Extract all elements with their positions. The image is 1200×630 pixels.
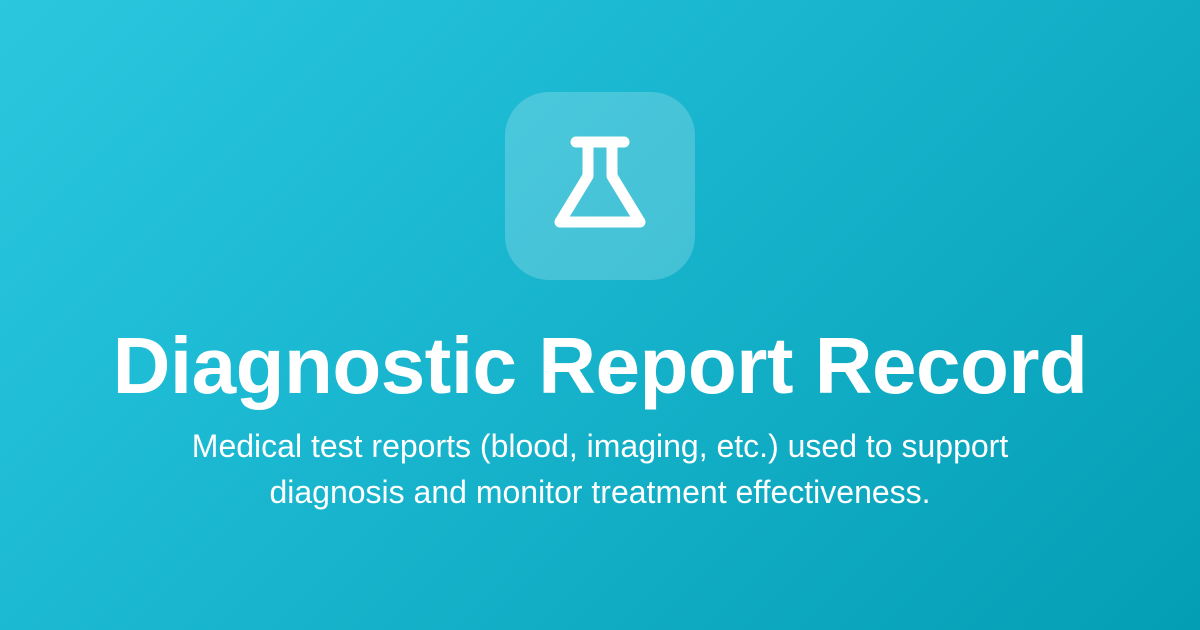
page-subtitle: Medical test reports (blood, imaging, et… <box>95 423 1105 515</box>
flask-icon <box>538 124 662 248</box>
page-subtitle-line-1: Medical test reports (blood, imaging, et… <box>95 423 1105 469</box>
hero-banner: Diagnostic Report Record Medical test re… <box>0 0 1200 630</box>
icon-tile <box>505 92 695 280</box>
page-title: Diagnostic Report Record <box>0 324 1200 407</box>
page-subtitle-line-2: diagnosis and monitor treatment effectiv… <box>95 469 1105 515</box>
